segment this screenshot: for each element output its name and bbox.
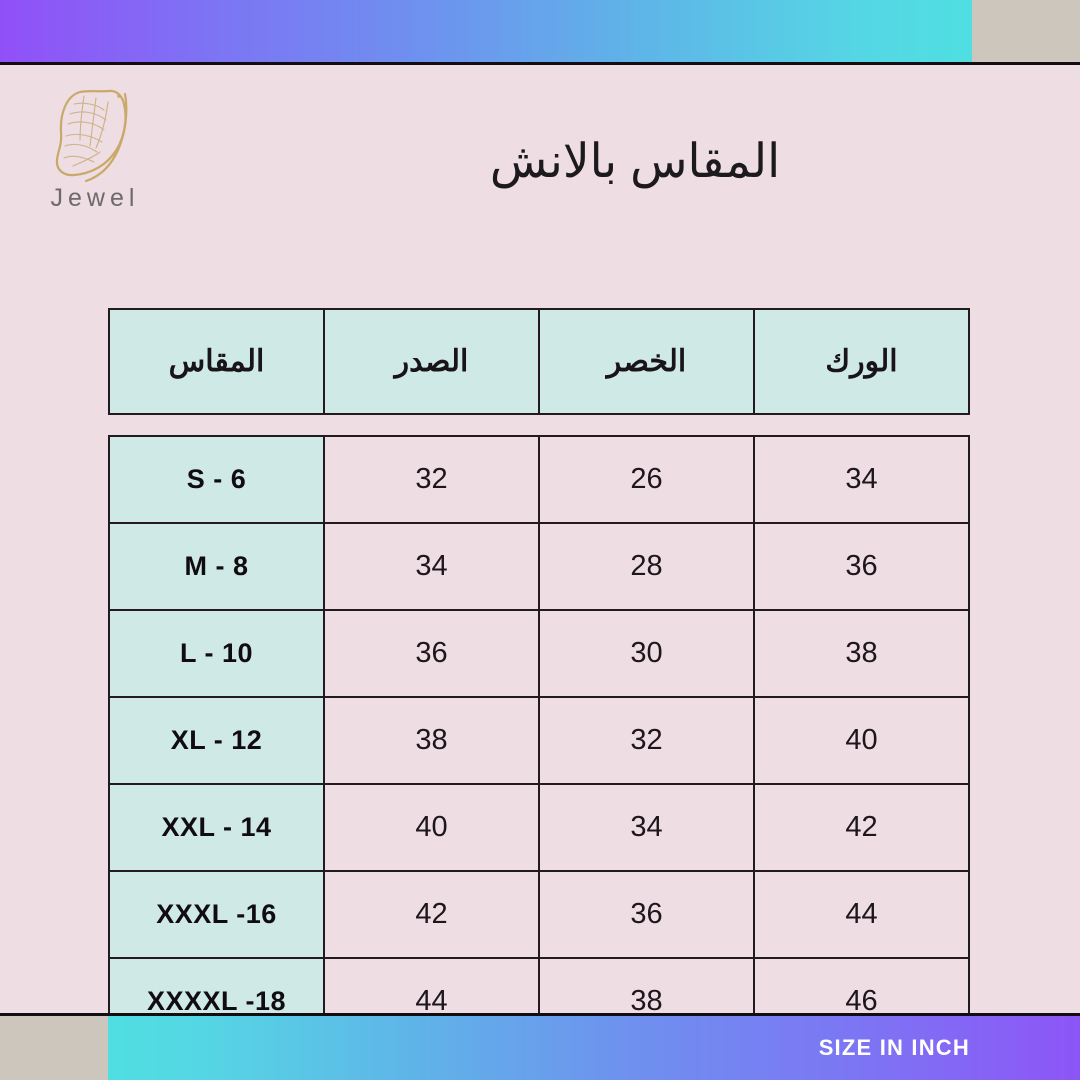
cell-waist: 34 xyxy=(539,784,754,871)
cell-hip: 42 xyxy=(754,784,969,871)
cell-hip: 38 xyxy=(754,610,969,697)
cell-waist: 30 xyxy=(539,610,754,697)
table-header-row: المقاس الصدر الخصر الورك xyxy=(109,309,969,414)
column-header-hip: الورك xyxy=(754,309,969,414)
cell-hip: 36 xyxy=(754,523,969,610)
table-row: XL - 12 38 32 40 xyxy=(109,697,969,784)
cell-size: L - 10 xyxy=(109,610,324,697)
cell-chest: 32 xyxy=(324,436,539,523)
content-canvas: Jewel المقاس بالانش المقاس الصدر الخصر ا… xyxy=(0,65,1080,1016)
top-gradient-banner xyxy=(0,0,972,62)
page-title: المقاس بالانش xyxy=(300,133,970,189)
size-chart-body-table: S - 6 32 26 34 M - 8 34 28 36 L - 10 36 … xyxy=(108,435,970,1046)
size-chart-page: Jewel المقاس بالانش المقاس الصدر الخصر ا… xyxy=(0,0,1080,1080)
cell-size: XXXL -16 xyxy=(109,871,324,958)
table-row: XXL - 14 40 34 42 xyxy=(109,784,969,871)
table-row: XXXL -16 42 36 44 xyxy=(109,871,969,958)
cell-waist: 32 xyxy=(539,697,754,784)
table-row: S - 6 32 26 34 xyxy=(109,436,969,523)
cell-size: M - 8 xyxy=(109,523,324,610)
butterfly-wing-icon xyxy=(40,80,150,190)
cell-hip: 44 xyxy=(754,871,969,958)
cell-chest: 42 xyxy=(324,871,539,958)
cell-chest: 40 xyxy=(324,784,539,871)
column-header-chest: الصدر xyxy=(324,309,539,414)
table-row: L - 10 36 30 38 xyxy=(109,610,969,697)
column-header-size: المقاس xyxy=(109,309,324,414)
cell-waist: 26 xyxy=(539,436,754,523)
size-chart-header-table: المقاس الصدر الخصر الورك xyxy=(108,308,970,415)
cell-chest: 36 xyxy=(324,610,539,697)
cell-size: XXL - 14 xyxy=(109,784,324,871)
cell-waist: 28 xyxy=(539,523,754,610)
cell-waist: 36 xyxy=(539,871,754,958)
cell-hip: 34 xyxy=(754,436,969,523)
logo-dot-icon xyxy=(117,94,121,98)
unit-label: SIZE IN INCH xyxy=(819,1035,970,1061)
cell-chest: 38 xyxy=(324,697,539,784)
bottom-gradient-banner: SIZE IN INCH xyxy=(108,1016,1080,1080)
brand-logo: Jewel xyxy=(30,80,160,213)
cell-chest: 34 xyxy=(324,523,539,610)
brand-name: Jewel xyxy=(30,184,160,213)
table-row: M - 8 34 28 36 xyxy=(109,523,969,610)
column-header-waist: الخصر xyxy=(539,309,754,414)
cell-size: XL - 12 xyxy=(109,697,324,784)
cell-hip: 40 xyxy=(754,697,969,784)
cell-size: S - 6 xyxy=(109,436,324,523)
